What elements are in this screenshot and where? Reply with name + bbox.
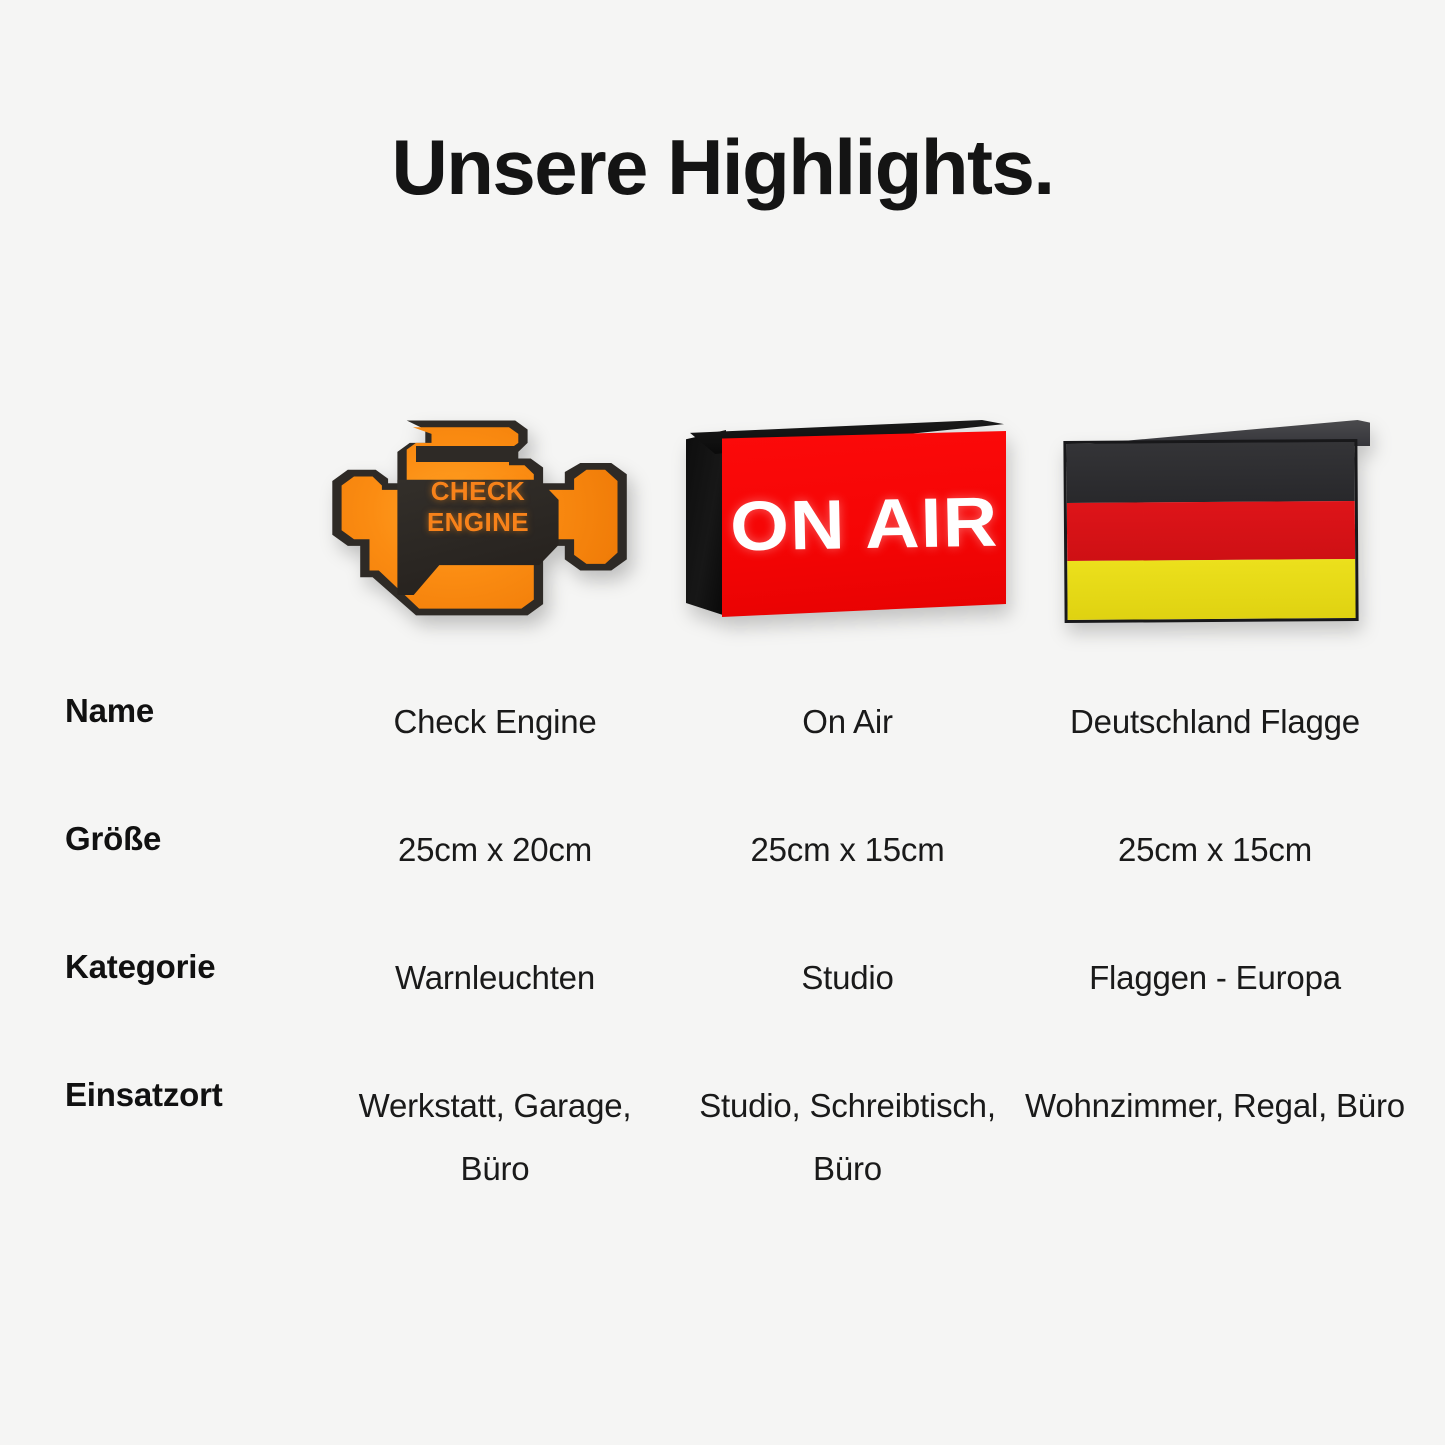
cell-name-on-air: On Air xyxy=(670,690,1025,753)
cell-category-check-engine: Warnleuchten xyxy=(320,946,670,1009)
on-air-lightbox-icon: ON AIR xyxy=(686,420,1006,638)
cell-placement-deutschland-flagge: Wohnzimmer, Regal, Büro xyxy=(1025,1074,1405,1137)
on-air-front-face: ON AIR xyxy=(722,431,1006,617)
cell-name-deutschland-flagge: Deutschland Flagge xyxy=(1025,690,1405,753)
table-row: Name Check Engine On Air Deutschland Fla… xyxy=(0,690,1445,818)
product-image-on-air[interactable]: ON AIR xyxy=(670,408,1020,670)
cell-placement-on-air: Studio, Schreibtisch, Büro xyxy=(670,1074,1025,1201)
row-label-kategorie: Kategorie xyxy=(0,946,320,987)
row-label-groesse: Größe xyxy=(0,818,320,859)
engine-label-line-2: ENGINE xyxy=(397,507,558,538)
cell-placement-check-engine: Werkstatt, Garage, Büro xyxy=(320,1074,670,1201)
table-row: Größe 25cm x 20cm 25cm x 15cm 25cm x 15c… xyxy=(0,818,1445,946)
cell-name-check-engine: Check Engine xyxy=(320,690,670,753)
on-air-sign-text: ON AIR xyxy=(729,482,999,567)
row-label-name: Name xyxy=(0,690,320,731)
cell-size-on-air: 25cm x 15cm xyxy=(670,818,1025,881)
engine-label-line-1: CHECK xyxy=(397,476,558,507)
product-image-row: CHECK ENGINE ON AIR xyxy=(0,408,1445,670)
product-image-check-engine[interactable]: CHECK ENGINE xyxy=(315,408,670,670)
germany-flag-lightbox-icon xyxy=(1058,420,1370,632)
flag-band-yellow xyxy=(1067,559,1355,620)
product-image-deutschland-flagge[interactable] xyxy=(1030,408,1390,670)
flag-band-black xyxy=(1066,442,1354,503)
flag-band-red xyxy=(1067,501,1355,562)
cell-size-check-engine: 25cm x 20cm xyxy=(320,818,670,881)
row-label-einsatzort: Einsatzort xyxy=(0,1074,320,1115)
spec-table: Name Check Engine On Air Deutschland Fla… xyxy=(0,690,1445,1224)
table-row: Einsatzort Werkstatt, Garage, Büro Studi… xyxy=(0,1074,1445,1224)
engine-core-label: CHECK ENGINE xyxy=(397,476,558,537)
cell-category-deutschland-flagge: Flaggen - Europa xyxy=(1025,946,1405,1009)
table-row: Kategorie Warnleuchten Studio Flaggen - … xyxy=(0,946,1445,1074)
flag-front-face xyxy=(1063,439,1358,623)
check-engine-icon: CHECK ENGINE xyxy=(323,416,633,640)
engine-top-bar xyxy=(416,446,515,462)
on-air-side-face xyxy=(686,430,726,616)
cell-size-deutschland-flagge: 25cm x 15cm xyxy=(1025,818,1405,881)
cell-category-on-air: Studio xyxy=(670,946,1025,1009)
page-title: Unsere Highlights. xyxy=(0,128,1445,206)
